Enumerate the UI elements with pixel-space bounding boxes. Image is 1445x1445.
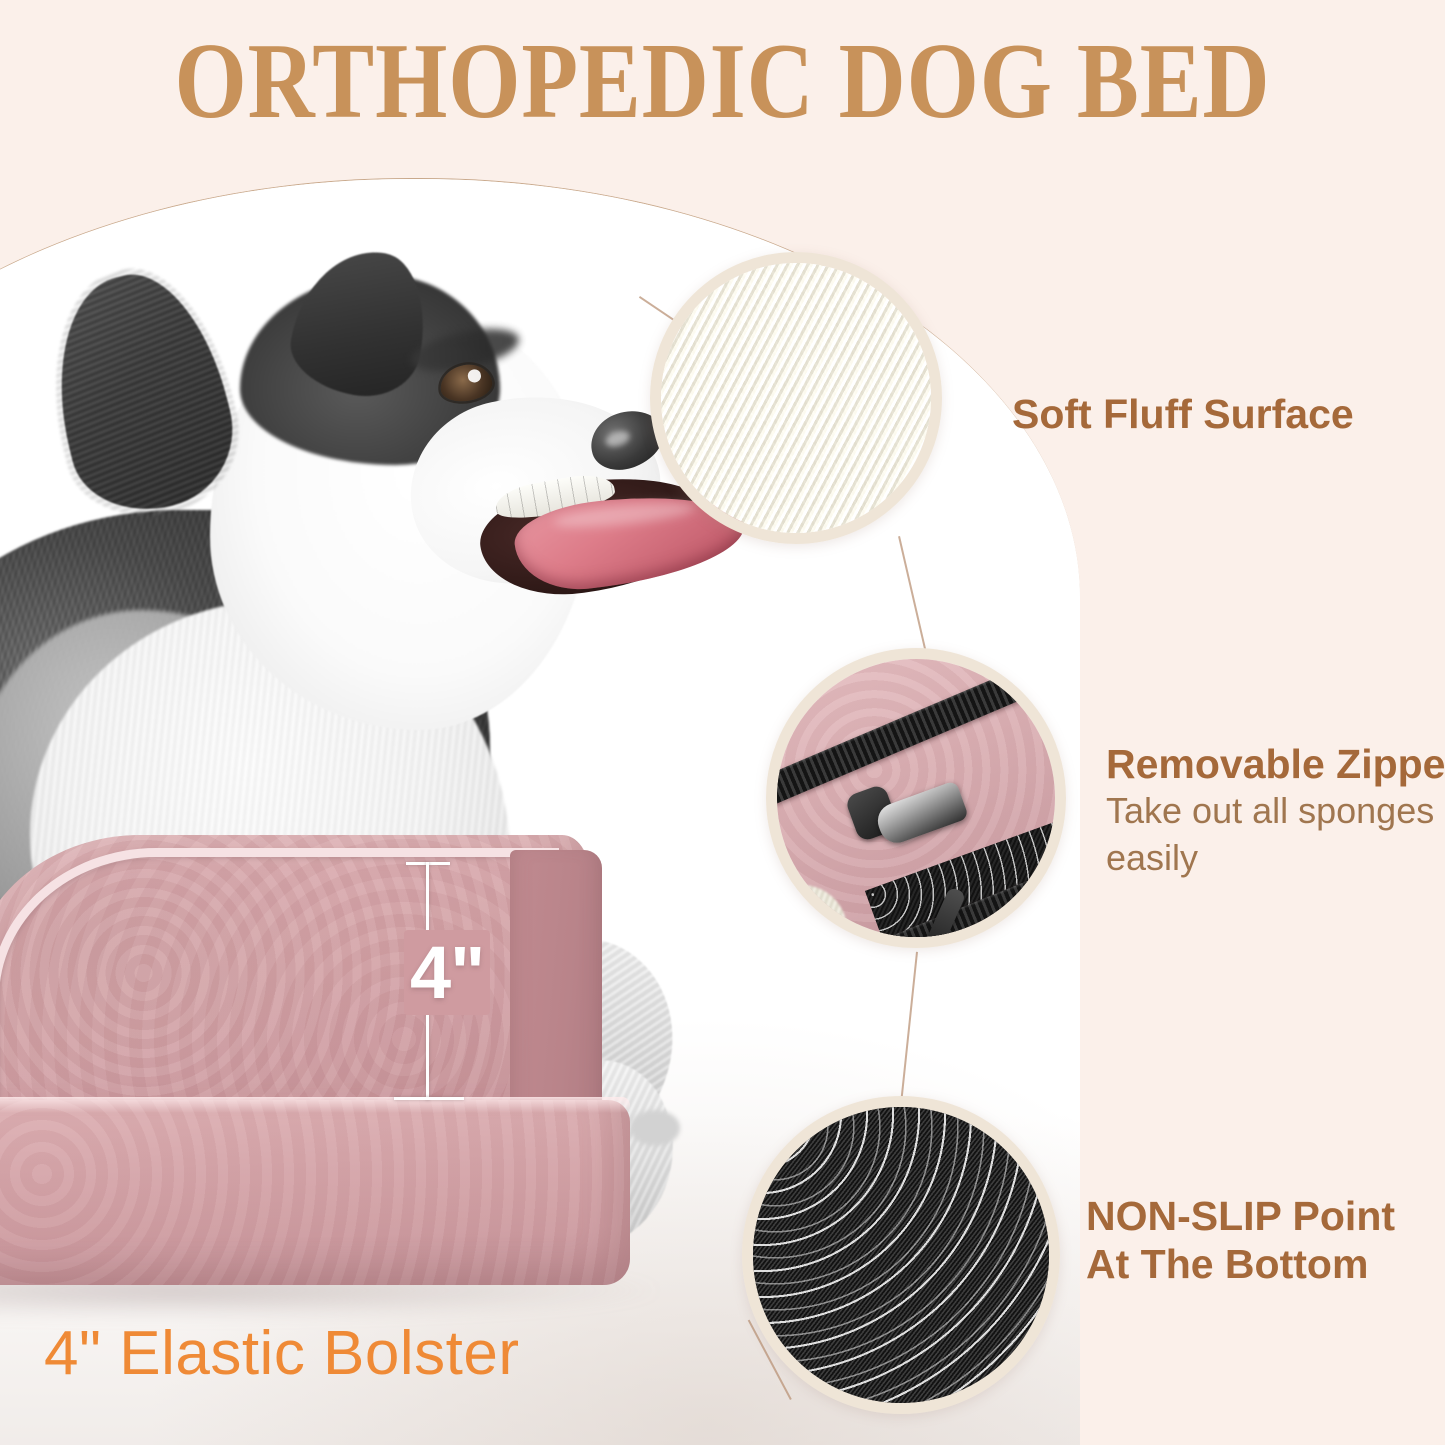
callout-swatch-soft-fluff [650, 252, 942, 544]
callout-heading: Soft Fluff Surface [1012, 390, 1354, 438]
callout-heading-line1: NON-SLIP Point [1086, 1192, 1395, 1240]
callout-label-soft-fluff: Soft Fluff Surface [1012, 390, 1354, 438]
page-title: ORTHOPEDIC DOG BED [101, 28, 1344, 136]
thickness-dimension-annotation: 4" [398, 862, 518, 1100]
bed-base-top-edge [0, 1097, 630, 1113]
dimension-cap-bottom [394, 1097, 464, 1100]
sherpa-fleece-texture [661, 263, 931, 533]
callout-label-non-slip: NON-SLIP Point At The Bottom [1086, 1192, 1395, 1289]
dog-bed-product [0, 600, 740, 1300]
infographic-canvas: ORTHOPEDIC DOG BED [0, 0, 1445, 1445]
bolster-caption: 4" Elastic Bolster [44, 1318, 520, 1389]
dimension-value: 4" [404, 930, 490, 1015]
non-slip-dotted-texture [753, 1107, 1049, 1403]
bed-base-mattress [0, 1100, 630, 1285]
callout-swatch-non-slip [742, 1096, 1060, 1414]
callout-heading-line2: At The Bottom [1086, 1240, 1395, 1288]
callout-heading: Removable Zipper [1106, 740, 1436, 788]
callout-subtext: Take out all sponges easily [1106, 788, 1436, 882]
callout-label-removable-zipper: Removable Zipper Take out all sponges ea… [1106, 740, 1436, 882]
callout-swatch-removable-zipper [766, 648, 1066, 948]
dog-ear-left [32, 259, 249, 527]
